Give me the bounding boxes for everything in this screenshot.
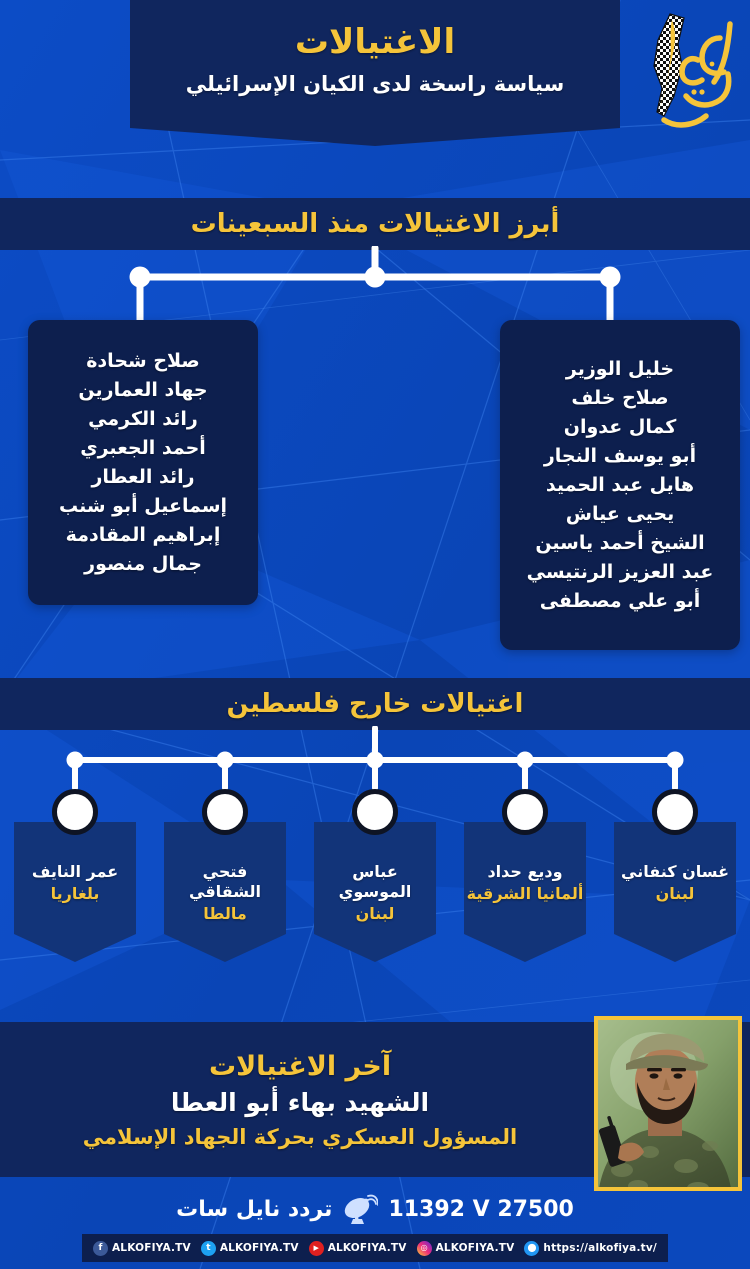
list-item: صلاح خلف (571, 384, 668, 413)
pennant-place: لبنان (656, 884, 695, 904)
portrait-illustration (594, 1020, 738, 1191)
social-link-label: ALKOFIYA.TV (112, 1242, 191, 1254)
facebook-icon: f (93, 1241, 108, 1256)
alkofiya-logo-icon[interactable] (624, 4, 742, 134)
frequency-label: تردد نايل سات (176, 1197, 332, 1222)
pennant-card[interactable]: فتحي الشقاقي مالطا (164, 822, 286, 962)
frequency-row: 11392 V 27500 تردد نايل سات (0, 1186, 750, 1232)
pennant-card[interactable]: عباس الموسوي لبنان (314, 822, 436, 962)
social-link-facebook[interactable]: f ALKOFIYA.TV (93, 1241, 191, 1256)
header-panel: الاغتيالات سياسة راسخة لدى الكيان الإسرا… (130, 0, 620, 120)
social-link-youtube[interactable]: ▶ ALKOFIYA.TV (309, 1241, 407, 1256)
social-link-website[interactable]: ⬤ https://alkofiya.tv/ (524, 1241, 657, 1256)
pennant-card[interactable]: غسان كنفاني لبنان (614, 822, 736, 962)
section-banner-label: اغتيالات خارج فلسطين (227, 689, 524, 719)
section-banner-outside-palestine: اغتيالات خارج فلسطين (0, 678, 750, 730)
last-assassination-title: آخر الاغتيالات (209, 1051, 391, 1082)
social-link-twitter[interactable]: t ALKOFIYA.TV (201, 1241, 299, 1256)
pennant-name: فتحي الشقاقي (164, 862, 286, 902)
node-marker (52, 789, 98, 835)
satellite-dish-icon (342, 1192, 378, 1226)
list-item: يحيى عياش (566, 500, 675, 529)
pennant-name: عمر النايف (32, 862, 118, 882)
list-item: أبو علي مصطفى (540, 587, 701, 616)
pennant-place: مالطا (203, 904, 247, 924)
social-bar: f ALKOFIYA.TV t ALKOFIYA.TV ▶ ALKOFIYA.T… (82, 1234, 668, 1262)
list-item: عبد العزيز الرنتيسي (527, 558, 714, 587)
website-icon: ⬤ (524, 1241, 539, 1256)
page-subtitle: سياسة راسخة لدى الكيان الإسرائيلي (186, 72, 565, 96)
list-item: رائد الكرمي (88, 405, 198, 434)
section-banner-prominent: أبرز الاغتيالات منذ السبعينات (0, 198, 750, 250)
node-marker (202, 789, 248, 835)
names-card-right: خليل الوزير صلاح خلف كمال عدوان أبو يوسف… (500, 320, 740, 650)
node-marker (502, 789, 548, 835)
list-item: الشيخ أحمد ياسين (535, 529, 704, 558)
node-marker (652, 789, 698, 835)
pennant-name: عباس الموسوي (314, 862, 436, 902)
pennant-name: غسان كنفاني (621, 862, 729, 882)
twitter-icon: t (201, 1241, 216, 1256)
list-item: جمال منصور (84, 550, 202, 579)
youtube-icon: ▶ (309, 1241, 324, 1256)
node-marker (352, 789, 398, 835)
list-item: هايل عبد الحميد (546, 471, 694, 500)
social-link-label: ALKOFIYA.TV (436, 1242, 515, 1254)
instagram-icon: ◎ (417, 1241, 432, 1256)
list-item: أبو يوسف النجار (544, 442, 696, 471)
social-link-instagram[interactable]: ◎ ALKOFIYA.TV (417, 1241, 515, 1256)
header-bottom-notch (130, 120, 620, 146)
list-item: جهاد العمارين (78, 376, 207, 405)
pennant-card[interactable]: وديع حداد ألمانيا الشرقية (464, 822, 586, 962)
list-item: صلاح شحادة (86, 347, 200, 376)
social-link-label: ALKOFIYA.TV (328, 1242, 407, 1254)
frequency-value: 11392 V 27500 (388, 1197, 573, 1222)
pennant-place: لبنان (356, 904, 395, 924)
pennant-name: وديع حداد (487, 862, 562, 882)
list-item: كمال عدوان (564, 413, 677, 442)
section-banner-label: أبرز الاغتيالات منذ السبعينات (191, 209, 560, 239)
pennant-place: ألمانيا الشرقية (467, 884, 584, 904)
pennant-card[interactable]: عمر النايف بلغاريا (14, 822, 136, 962)
martyr-portrait-photo (594, 1016, 742, 1191)
page-title: الاغتيالات (295, 24, 455, 61)
names-card-left: صلاح شحادة جهاد العمارين رائد الكرمي أحم… (28, 320, 258, 605)
list-item: إسماعيل أبو شنب (59, 492, 227, 521)
list-item: خليل الوزير (566, 355, 674, 384)
list-item: رائد العطار (91, 463, 194, 492)
list-item: إبراهيم المقادمة (66, 521, 221, 550)
last-assassination-role: المسؤول العسكري بحركة الجهاد الإسلامي (83, 1125, 518, 1149)
social-link-label: ALKOFIYA.TV (220, 1242, 299, 1254)
pennant-place: بلغاريا (51, 884, 100, 904)
social-link-label: https://alkofiya.tv/ (543, 1242, 657, 1254)
list-item: أحمد الجعبري (80, 434, 206, 463)
last-assassination-name: الشهيد بهاء أبو العطا (171, 1088, 429, 1117)
